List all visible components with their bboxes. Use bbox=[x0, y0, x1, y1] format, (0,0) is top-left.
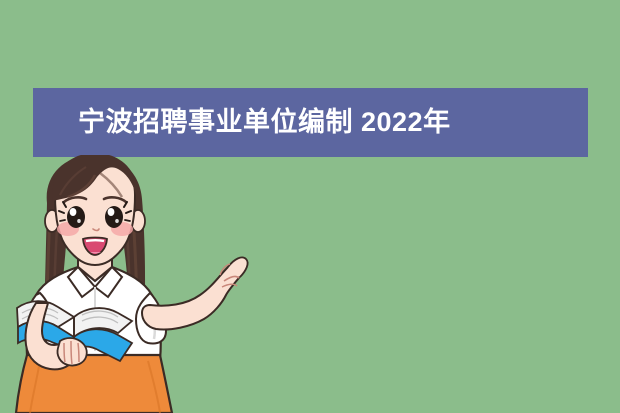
page-title: 宁波招聘事业单位编制 2022年 bbox=[78, 109, 451, 136]
title-banner: 宁波招聘事业单位编制 2022年 bbox=[33, 88, 588, 157]
page-canvas: 宁波招聘事业单位编制 2022年 bbox=[0, 0, 620, 413]
woman-with-book-illustration bbox=[0, 155, 310, 413]
left-hand bbox=[57, 338, 86, 366]
right-arm-presenting bbox=[142, 257, 248, 329]
